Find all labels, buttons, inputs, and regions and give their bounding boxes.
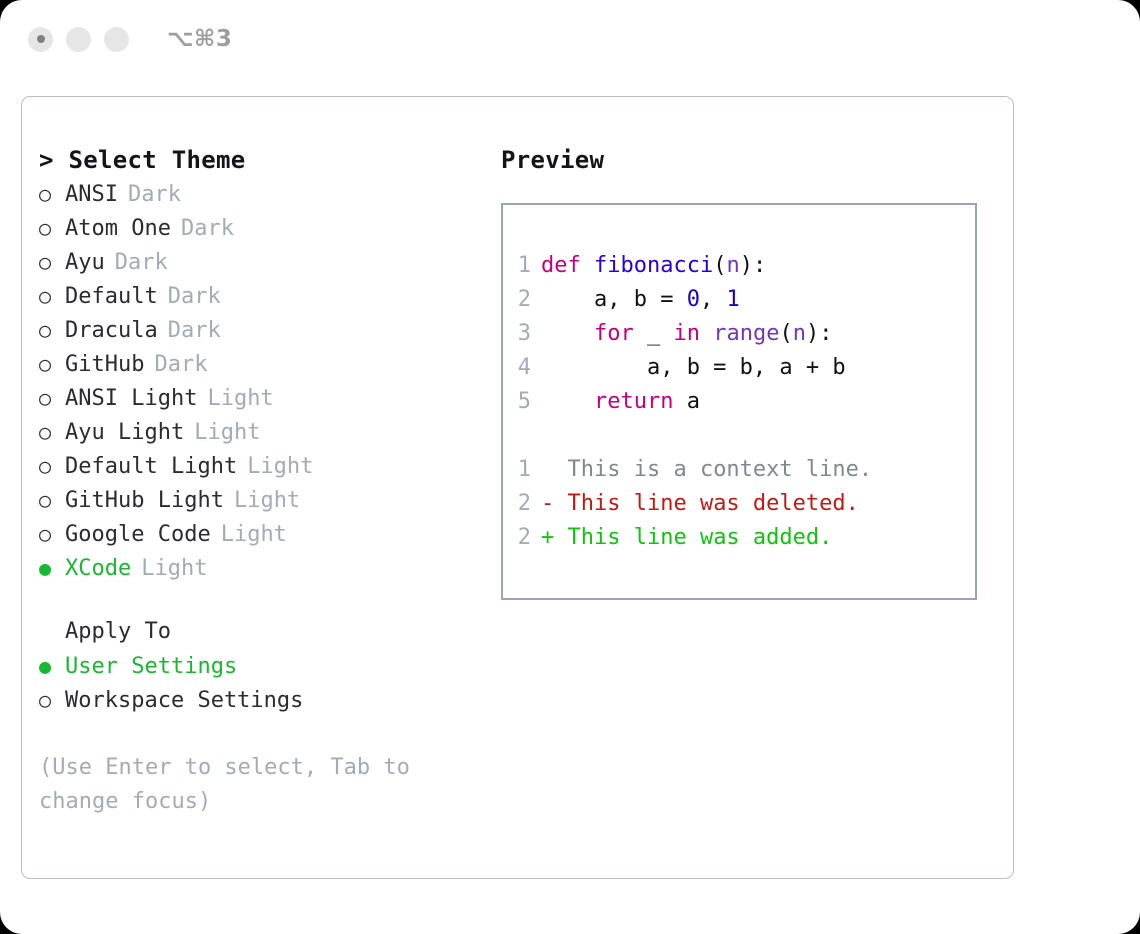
theme-option-variant: Dark xyxy=(168,280,221,314)
code-token-param: n xyxy=(726,253,739,278)
radio-unselected-icon: ○ xyxy=(39,177,65,211)
theme-option-variant: Light xyxy=(194,416,260,450)
code-token-kw: def xyxy=(541,253,594,278)
diff-marker: + xyxy=(541,525,554,550)
code-token-plain: ): xyxy=(806,321,833,346)
theme-selector-pane: > Select Theme ○ANSIDark○Atom OneDark○Ay… xyxy=(39,143,489,819)
radio-unselected-icon: ○ xyxy=(39,381,65,415)
line-number: 2 xyxy=(503,521,541,555)
theme-option-variant: Light xyxy=(207,382,273,416)
diff-line-content: This is a context line. xyxy=(541,453,872,487)
theme-option-ansi-light[interactable]: ○ANSI LightLight xyxy=(39,381,489,415)
theme-option-default[interactable]: ○DefaultDark xyxy=(39,279,489,313)
code-line-content: a, b = 0, 1 xyxy=(541,283,740,317)
diff-text: This line was added. xyxy=(554,525,832,550)
diff-text: This line was deleted. xyxy=(554,491,859,516)
theme-option-variant: Dark xyxy=(181,212,234,246)
traffic-light-close-icon[interactable] xyxy=(28,27,53,52)
diff-line-content: + This line was added. xyxy=(541,521,832,555)
theme-option-list[interactable]: ○ANSIDark○Atom OneDark○AyuDark○DefaultDa… xyxy=(39,177,489,585)
line-number: 1 xyxy=(503,453,541,487)
theme-option-label: Ayu xyxy=(65,246,105,280)
theme-option-ansi[interactable]: ○ANSIDark xyxy=(39,177,489,211)
diff-text: This is a context line. xyxy=(554,457,872,482)
code-line: 1def fibonacci(n): xyxy=(503,249,975,283)
diff-sample: 1 This is a context line.2- This line wa… xyxy=(503,453,975,555)
line-number: 4 xyxy=(503,351,541,385)
theme-option-github[interactable]: ○GitHubDark xyxy=(39,347,489,381)
code-token-plain xyxy=(541,321,594,346)
preview-heading: Preview xyxy=(501,143,991,177)
diff-line-ctx: 1 This is a context line. xyxy=(503,453,975,487)
theme-option-label: Google Code xyxy=(65,518,211,552)
line-number: 2 xyxy=(503,283,541,317)
radio-unselected-icon: ○ xyxy=(39,683,65,717)
theme-option-variant: Light xyxy=(221,518,287,552)
theme-option-variant: Dark xyxy=(154,348,207,382)
theme-option-variant: Dark xyxy=(128,178,181,212)
code-token-num: 0 xyxy=(687,287,700,312)
code-sample: 1def fibonacci(n):2 a, b = 0, 13 for _ i… xyxy=(503,249,975,419)
theme-option-label: GitHub xyxy=(65,348,144,382)
theme-option-variant: Light xyxy=(247,450,313,484)
theme-option-label: XCode xyxy=(65,552,131,586)
theme-option-label: Ayu Light xyxy=(65,416,184,450)
theme-option-label: Default xyxy=(65,280,158,314)
code-token-kw: for xyxy=(594,321,634,346)
radio-unselected-icon: ○ xyxy=(39,313,65,347)
preview-pane: Preview 1def fibonacci(n):2 a, b = 0, 13… xyxy=(501,143,991,600)
radio-unselected-icon: ○ xyxy=(39,415,65,449)
code-line-content: def fibonacci(n): xyxy=(541,249,766,283)
code-token-plain xyxy=(541,389,594,414)
code-token-kw: in xyxy=(673,321,700,346)
code-line: 5 return a xyxy=(503,385,975,419)
apply-to-heading: Apply To xyxy=(39,615,489,649)
theme-option-github-light[interactable]: ○GitHub LightLight xyxy=(39,483,489,517)
theme-option-ayu-light[interactable]: ○Ayu LightLight xyxy=(39,415,489,449)
radio-unselected-icon: ○ xyxy=(39,449,65,483)
radio-selected-icon: ● xyxy=(39,551,65,585)
code-token-plain: a, b = b, a + b xyxy=(541,355,846,380)
title-bar: ⌥⌘3 xyxy=(0,0,1140,78)
radio-unselected-icon: ○ xyxy=(39,279,65,313)
diff-marker: - xyxy=(541,491,554,516)
code-token-plain: a, b = xyxy=(541,287,687,312)
apply-to-option-workspace-settings[interactable]: ○Workspace Settings xyxy=(39,683,489,717)
theme-option-xcode[interactable]: ●XCodeLight xyxy=(39,551,489,585)
code-token-param: n xyxy=(793,321,806,346)
code-line-content: return a xyxy=(541,385,700,419)
code-spacer xyxy=(503,419,975,453)
theme-option-label: ANSI xyxy=(65,178,118,212)
traffic-light-maximize-icon[interactable] xyxy=(104,27,129,52)
code-token-plain: ( xyxy=(779,321,792,346)
code-token-plain: ( xyxy=(713,253,726,278)
keyboard-hint-text: (Use Enter to select, Tab to change focu… xyxy=(39,751,459,819)
radio-selected-icon: ● xyxy=(39,649,65,683)
code-token-plain: ): xyxy=(740,253,767,278)
line-number: 5 xyxy=(503,385,541,419)
line-number: 1 xyxy=(503,249,541,283)
diff-line-content: - This line was deleted. xyxy=(541,487,859,521)
apply-to-option-label: Workspace Settings xyxy=(65,684,303,718)
code-token-plain xyxy=(700,321,713,346)
theme-option-default-light[interactable]: ○Default LightLight xyxy=(39,449,489,483)
code-token-num: 1 xyxy=(726,287,739,312)
theme-option-label: Dracula xyxy=(65,314,158,348)
code-token-plain: a xyxy=(673,389,700,414)
code-token-call: range xyxy=(713,321,779,346)
diff-marker xyxy=(541,457,554,482)
code-line-content: a, b = b, a + b xyxy=(541,351,846,385)
theme-option-dracula[interactable]: ○DraculaDark xyxy=(39,313,489,347)
apply-to-option-label: User Settings xyxy=(65,650,237,684)
code-line-content: for _ in range(n): xyxy=(541,317,832,351)
main-panel: > Select Theme ○ANSIDark○Atom OneDark○Ay… xyxy=(21,96,1014,879)
theme-option-label: Default Light xyxy=(65,450,237,484)
code-token-fn: fibonacci xyxy=(594,253,713,278)
radio-unselected-icon: ○ xyxy=(39,517,65,551)
line-number: 3 xyxy=(503,317,541,351)
radio-unselected-icon: ○ xyxy=(39,211,65,245)
diff-line-add: 2+ This line was added. xyxy=(503,521,975,555)
theme-option-google-code[interactable]: ○Google CodeLight xyxy=(39,517,489,551)
app-window: ⌥⌘3 > Select Theme ○ANSIDark○Atom OneDar… xyxy=(0,0,1140,934)
theme-option-ayu[interactable]: ○AyuDark xyxy=(39,245,489,279)
code-token-kw: return xyxy=(594,389,673,414)
preview-box: 1def fibonacci(n):2 a, b = 0, 13 for _ i… xyxy=(501,203,977,600)
traffic-light-buttons xyxy=(28,27,129,52)
traffic-light-minimize-icon[interactable] xyxy=(66,27,91,52)
apply-to-option-user-settings[interactable]: ●User Settings xyxy=(39,649,489,683)
radio-unselected-icon: ○ xyxy=(39,483,65,517)
radio-unselected-icon: ○ xyxy=(39,347,65,381)
theme-option-variant: Dark xyxy=(168,314,221,348)
window-shortcut-label: ⌥⌘3 xyxy=(167,26,232,52)
code-line: 4 a, b = b, a + b xyxy=(503,351,975,385)
theme-option-variant: Light xyxy=(141,552,207,586)
apply-to-option-list[interactable]: ●User Settings○Workspace Settings xyxy=(39,649,489,717)
theme-option-variant: Light xyxy=(234,484,300,518)
code-token-plain: _ xyxy=(634,321,674,346)
theme-option-label: ANSI Light xyxy=(65,382,197,416)
diff-line-del: 2- This line was deleted. xyxy=(503,487,975,521)
code-line: 3 for _ in range(n): xyxy=(503,317,975,351)
line-number: 2 xyxy=(503,487,541,521)
code-line: 2 a, b = 0, 1 xyxy=(503,283,975,317)
radio-unselected-icon: ○ xyxy=(39,245,65,279)
select-theme-heading: > Select Theme xyxy=(39,143,489,177)
theme-option-atom-one[interactable]: ○Atom OneDark xyxy=(39,211,489,245)
theme-option-label: GitHub Light xyxy=(65,484,224,518)
theme-option-label: Atom One xyxy=(65,212,171,246)
code-token-plain: , xyxy=(700,287,727,312)
traffic-light-dot-inner xyxy=(37,35,45,43)
theme-option-variant: Dark xyxy=(115,246,168,280)
